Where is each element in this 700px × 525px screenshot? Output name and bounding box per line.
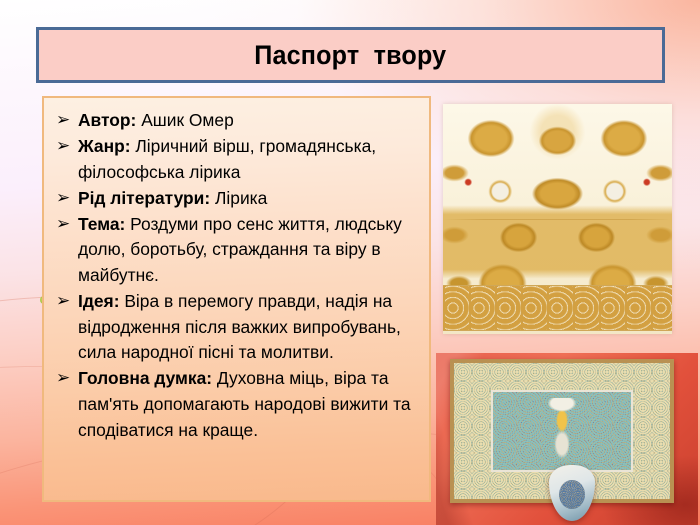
list-item: ➢ Головна думка: Духовна міць, віра та п…	[53, 366, 421, 443]
list-item: ➢ Автор: Ашик Омер	[53, 108, 421, 134]
arrowhead-bullet-icon: ➢	[56, 109, 74, 131]
list-item-label: Головна думка:	[78, 368, 212, 388]
arrowhead-bullet-icon: ➢	[56, 213, 74, 235]
list-item-label: Рід літератури:	[78, 188, 210, 208]
list-item-value: Роздуми про сенс життя, людську долю, бо…	[78, 214, 402, 285]
list-item: ➢ Жанр: Ліричний вірш, громадянська, філ…	[53, 134, 421, 185]
arrowhead-bullet-icon: ➢	[56, 290, 74, 312]
list-item: ➢ Тема: Роздуми про сенс життя, людську …	[53, 212, 421, 289]
arrowhead-bullet-icon: ➢	[56, 187, 74, 209]
list-item-value: Лірика	[215, 188, 267, 208]
tile-blue-center-panel	[491, 390, 634, 472]
tree-of-life-motif	[539, 398, 585, 463]
list-item-label: Ідея:	[78, 291, 119, 311]
embroidery-stem-line	[443, 219, 672, 220]
list-item-label: Жанр:	[78, 136, 131, 156]
list-item: ➢ Рід літератури: Лірика	[53, 186, 421, 212]
page-title: Паспорт твору	[254, 40, 446, 71]
list-item: ➢ Ідея: Віра в перемогу правди, надія на…	[53, 289, 421, 366]
arrowhead-bullet-icon: ➢	[56, 367, 74, 389]
passport-list: ➢ Автор: Ашик Омер ➢ Жанр: Ліричний вірш…	[53, 108, 421, 443]
list-item-value: Ашик Омер	[141, 110, 234, 130]
list-item-label: Автор:	[78, 110, 136, 130]
list-item-label: Тема:	[78, 214, 125, 234]
arrowhead-bullet-icon: ➢	[56, 135, 74, 157]
embroidery-vine-border	[443, 285, 672, 331]
list-item-value: Віра в перемогу правди, надія на відродж…	[78, 291, 401, 362]
decorative-tile-panel-photo	[436, 353, 698, 525]
slide-canvas: Паспорт твору ➢ Автор: Ашик Омер ➢ Жанр:…	[0, 0, 700, 525]
embroidered-towel-photo	[443, 104, 672, 334]
content-panel: ➢ Автор: Ашик Омер ➢ Жанр: Ліричний вірш…	[42, 96, 431, 502]
title-banner: Паспорт твору	[36, 27, 665, 83]
